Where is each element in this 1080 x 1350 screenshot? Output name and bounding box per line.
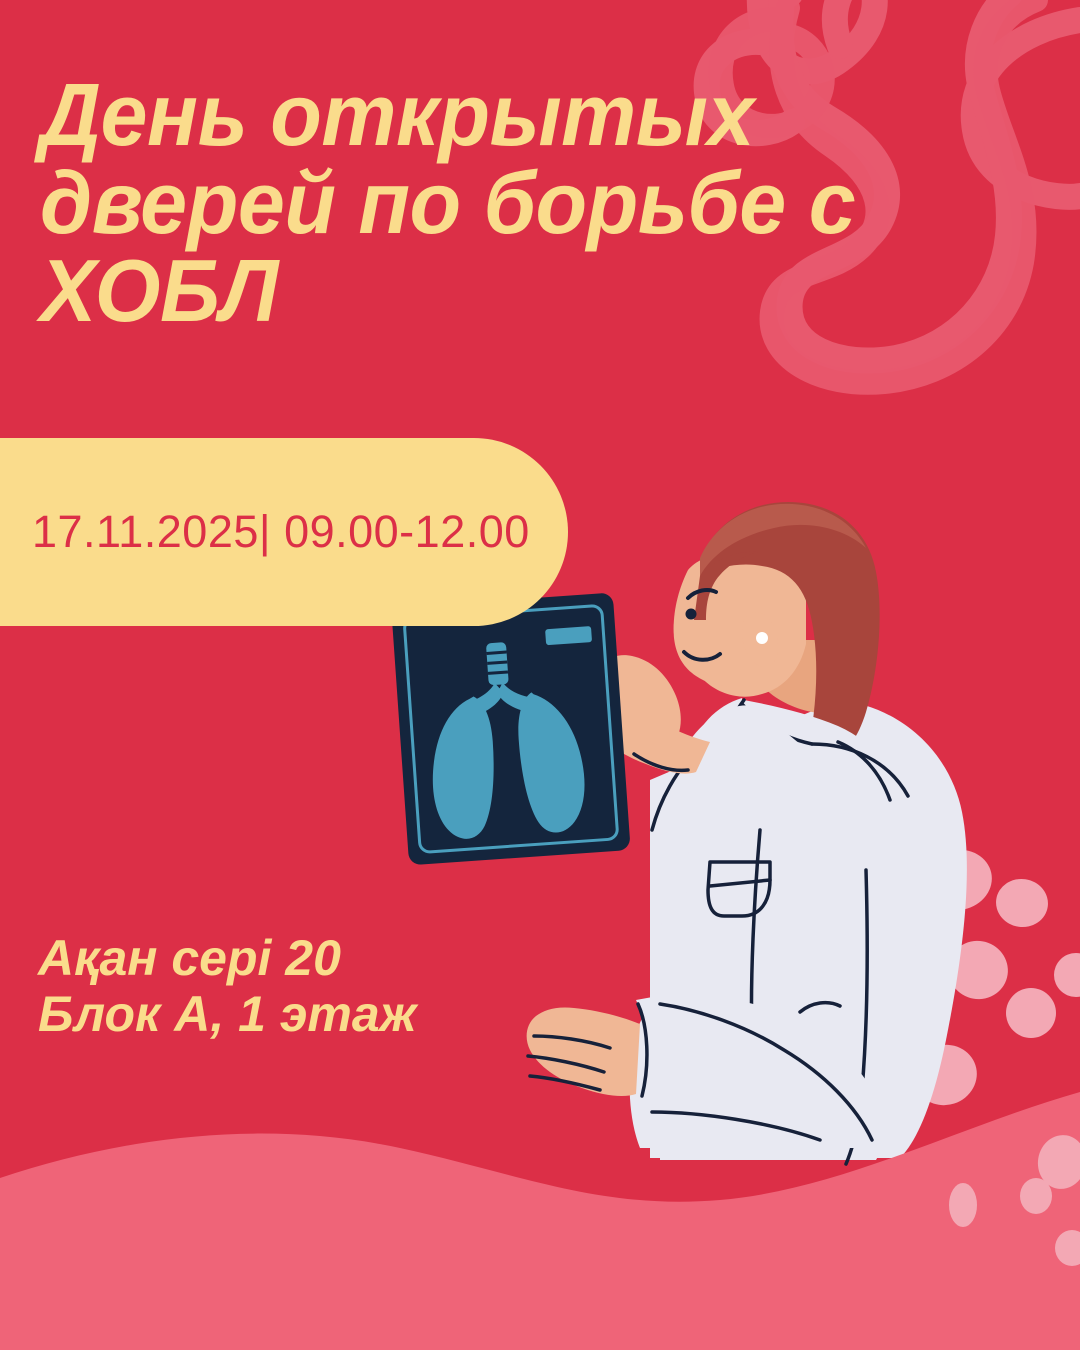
xray-panel xyxy=(391,593,630,866)
xray-background xyxy=(391,593,630,866)
poster-canvas: День открытых дверей по борьбе с ХОБЛ 17… xyxy=(0,0,1080,1350)
address-line-2: Блок А, 1 этаж xyxy=(38,986,417,1042)
title-line-3: ХОБЛ xyxy=(40,248,885,334)
address-line-1: Ақан сері 20 xyxy=(38,930,417,986)
address-block: Ақан сері 20 Блок А, 1 этаж xyxy=(38,930,417,1042)
hand-lower xyxy=(527,1007,640,1096)
date-time-banner: 17.11.2025| 09.00-12.00 xyxy=(0,438,568,626)
title-line-1: День открытых xyxy=(40,72,885,158)
eye xyxy=(686,609,697,620)
xray-label-bar xyxy=(545,626,592,645)
earring xyxy=(756,632,768,644)
title-line-2: дверей по борьбе с xyxy=(40,160,885,246)
page-title: День открытых дверей по борьбе с ХОБЛ xyxy=(40,72,920,337)
date-time-text: 17.11.2025| 09.00-12.00 xyxy=(32,506,530,558)
